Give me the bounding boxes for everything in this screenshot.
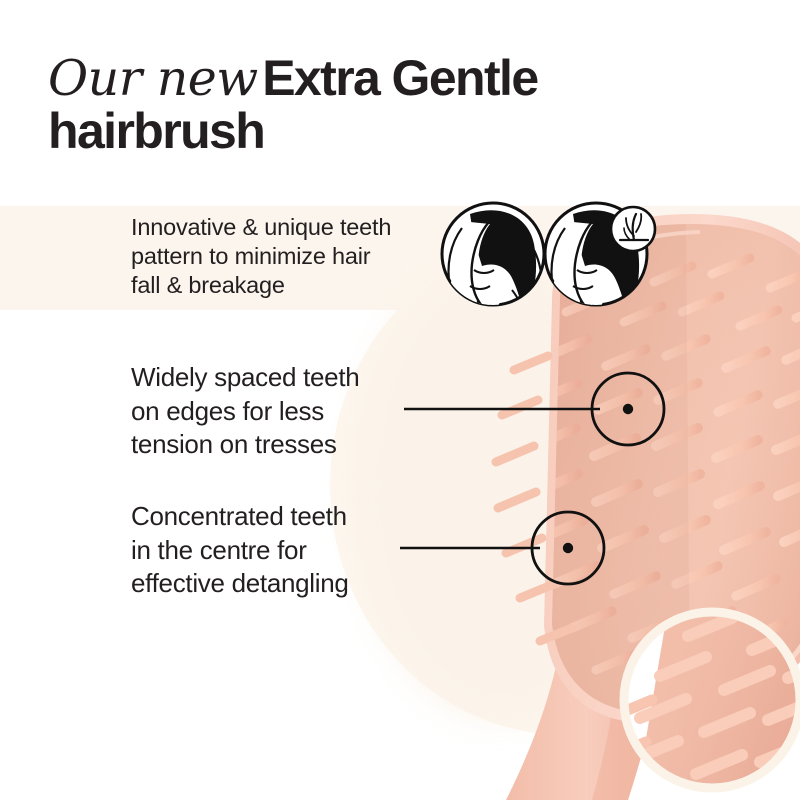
headline-bold-line1: Extra Gentle	[262, 50, 537, 106]
headline-italic: Our new	[48, 50, 258, 107]
callout-line: effective detangling	[131, 567, 349, 601]
callout-widely-spaced-teeth: Widely spaced teeth on edges for less te…	[131, 361, 359, 462]
product-infographic: Our new Extra Gentle hairbrush Innovativ…	[0, 0, 800, 800]
callout-line: pattern to minimize hair	[131, 242, 391, 271]
callout-line: on edges for less	[131, 395, 359, 429]
callout-line: Concentrated teeth	[131, 500, 349, 534]
callout-line: Innovative & unique teeth	[131, 213, 391, 242]
callout-line: tension on tresses	[131, 428, 359, 462]
callout-line: in the centre for	[131, 534, 349, 568]
callout-line: Widely spaced teeth	[131, 361, 359, 395]
callout-concentrated-teeth: Concentrated teeth in the centre for eff…	[131, 500, 349, 601]
cream-blob-soft-glow	[352, 252, 652, 722]
callout-line: fall & breakage	[131, 271, 391, 300]
callout-innovative-teeth-pattern: Innovative & unique teeth pattern to min…	[131, 213, 391, 300]
headline-bold-line2: hairbrush	[48, 103, 264, 159]
page-title: Our new Extra Gentle hairbrush	[48, 52, 648, 158]
